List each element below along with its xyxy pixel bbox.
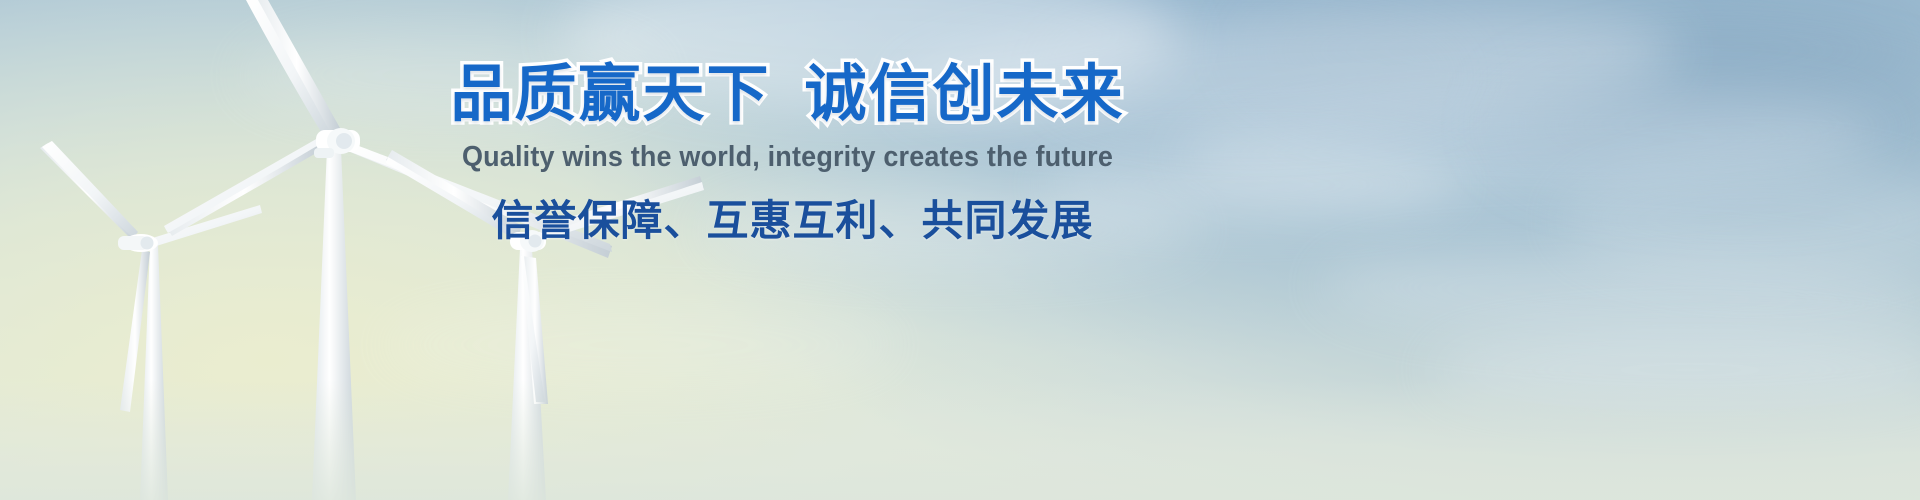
wind-turbine-illustration [0, 0, 1920, 500]
wind-turbine-center [164, 0, 612, 500]
wind-turbine-right [386, 150, 704, 500]
hero-banner: 品质赢天下诚信创未来 Quality wins the world, integ… [0, 0, 1920, 500]
